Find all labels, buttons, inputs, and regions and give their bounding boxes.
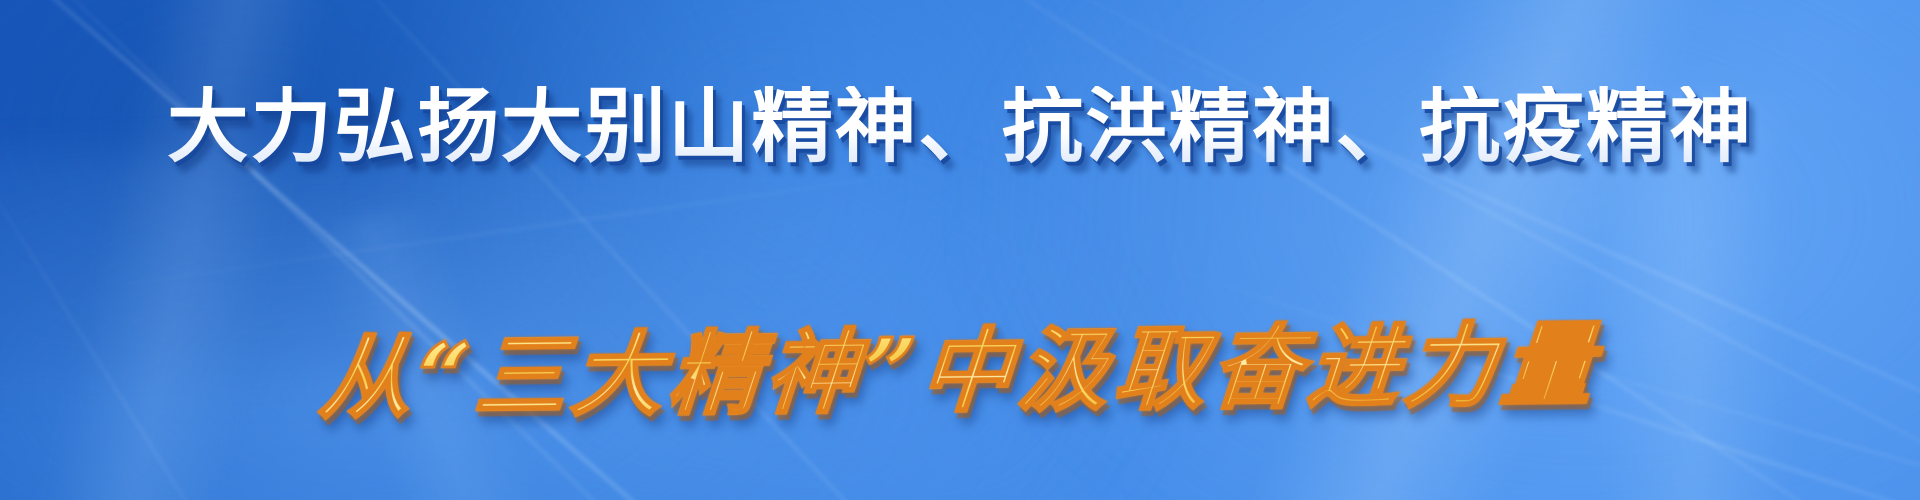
banner: 大力弘扬大别山精神、抗洪精神、抗疫精神 从“三大精神”中汲取奋进力量 (0, 0, 1920, 500)
banner-subheadline: 从“三大精神”中汲取奋进力量 (317, 321, 1602, 425)
banner-content: 大力弘扬大别山精神、抗洪精神、抗疫精神 从“三大精神”中汲取奋进力量 (0, 0, 1920, 500)
banner-subheadline-wrap: 从“三大精神”中汲取奋进力量 (321, 252, 1598, 493)
banner-headline: 大力弘扬大别山精神、抗洪精神、抗疫精神 (167, 86, 1753, 167)
